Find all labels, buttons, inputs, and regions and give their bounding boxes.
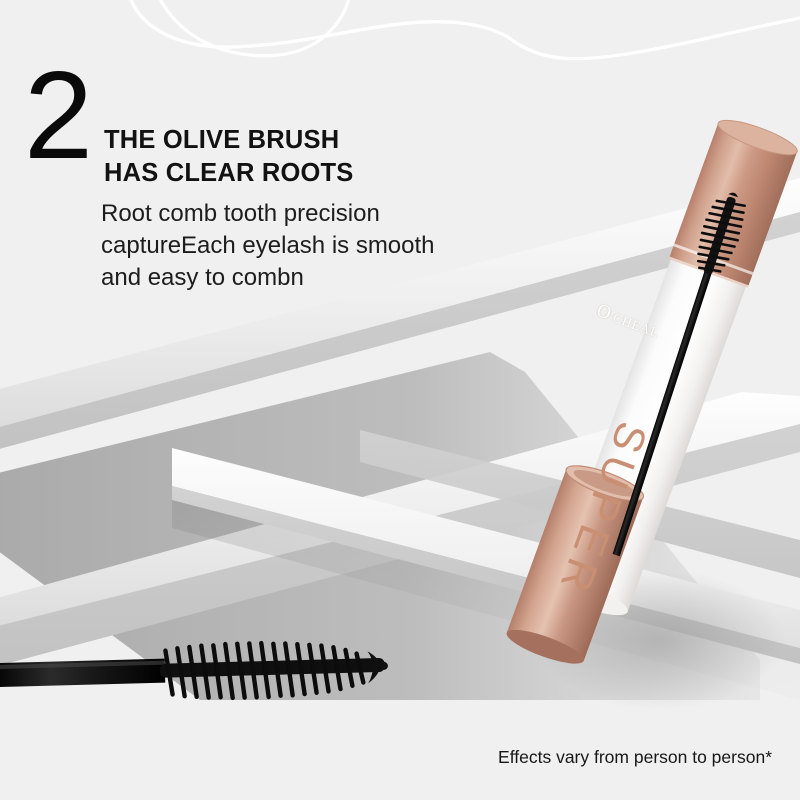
headline-line-1: THE OLIVE BRUSH	[104, 124, 354, 157]
product-photo-group	[0, 0, 800, 800]
body-copy: Root comb tooth precision captureEach ey…	[101, 198, 435, 294]
disclaimer-text: Effects vary from person to person*	[498, 747, 772, 768]
body-line-3: and easy to combn	[101, 262, 435, 294]
step-number: 2	[24, 54, 90, 178]
headline-line-2: HAS CLEAR ROOTS	[104, 157, 354, 190]
product-marketing-image: O'CHEAL SUPER 2 THE OLIVE BRUSH HAS CLEA…	[0, 0, 800, 800]
body-line-1: Root comb tooth precision	[101, 198, 435, 230]
headline: THE OLIVE BRUSH HAS CLEAR ROOTS	[104, 124, 354, 189]
body-line-2: captureEach eyelash is smooth	[101, 230, 435, 262]
